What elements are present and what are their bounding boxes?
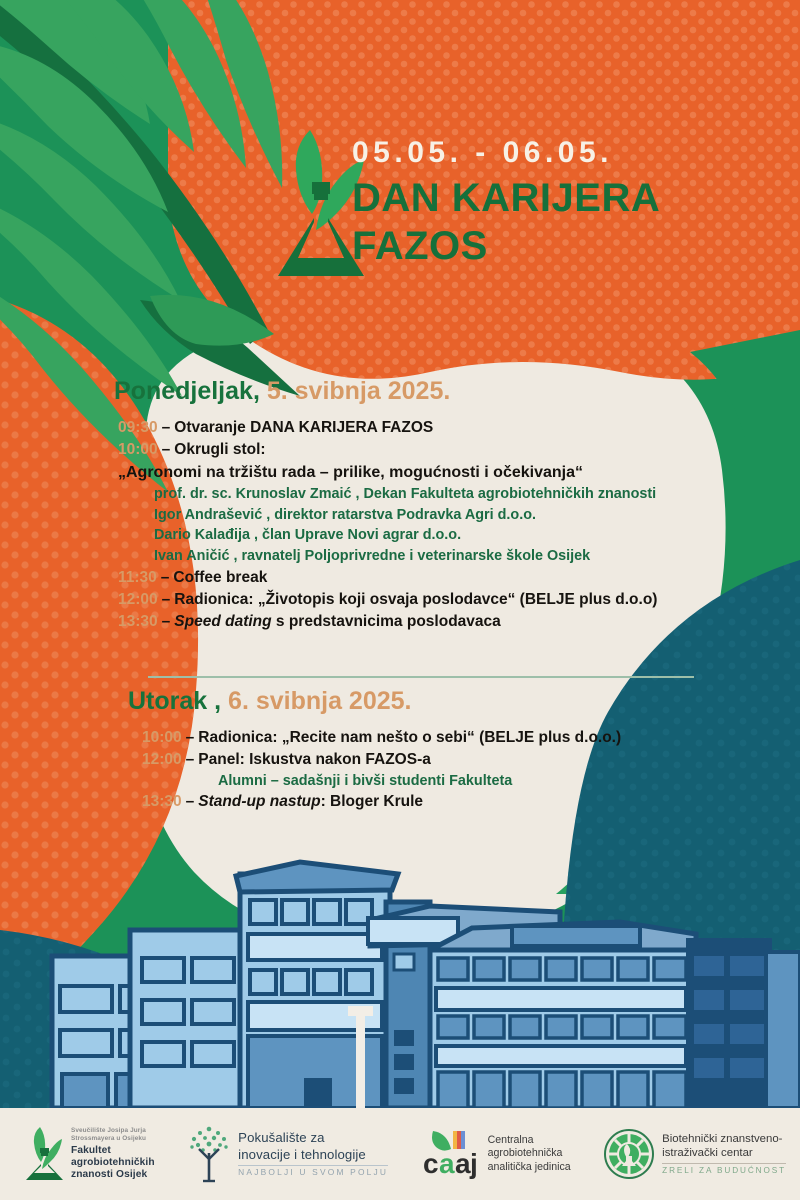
bzic-tagline: ZRELI ZA BUDUĆNOST	[662, 1166, 786, 1176]
row-time: 10:00	[142, 727, 182, 749]
day-name: Ponedjeljak,	[114, 377, 260, 405]
caaj-line-2: agrobiotehnička	[488, 1147, 571, 1160]
schedule-row: 12:00 – Radionica: „Životopis koji osvaj…	[114, 589, 734, 611]
footer-logo-bar: Sveučilište Josipa Jurja Strossmayera u …	[0, 1108, 800, 1200]
svg-text:a: a	[439, 1148, 455, 1179]
row-text-rest: s predstavnicima poslodavaca	[272, 613, 501, 630]
day-items: 10:00 – Radionica: „Recite nam nešto o s…	[128, 727, 748, 814]
schedule-day-tuesday: Utorak , 6. svibnja 2025. 10:00 – Radion…	[128, 688, 748, 813]
day-heading: Utorak , 6. svibnja 2025.	[128, 688, 748, 716]
row-dash: –	[161, 567, 170, 589]
row-time: 11:30	[118, 567, 157, 589]
logo-pokusaliste: Pokušalište za inovacije i tehnologije N…	[187, 1125, 388, 1183]
pokusaliste-line-1: Pokušalište za	[238, 1130, 388, 1147]
day-heading: Ponedjeljak, 5. svibnja 2025.	[114, 378, 734, 406]
logo-bzic-text: Biotehnički znanstveno- istraživački cen…	[662, 1133, 786, 1175]
row-text-italic: Stand-up nastup	[198, 793, 320, 810]
tree-network-icon	[187, 1125, 231, 1183]
schedule-row: 10:00 – Okrugli stol:	[114, 439, 734, 461]
section-divider	[148, 676, 694, 678]
logo-pokusaliste-text: Pokušalište za inovacije i tehnologije N…	[238, 1130, 388, 1178]
speaker-line: Ivan Aničić , ravnatelj Poljoprivredne i…	[114, 546, 734, 567]
row-text: Okrugli stol:	[174, 439, 265, 461]
row-text: Panel: Iskustva nakon FAZOS-a	[198, 749, 431, 771]
row-text-rest: : Bloger Krule	[321, 793, 423, 810]
logo-caaj-text: Centralna agrobiotehnička analitička jed…	[488, 1134, 571, 1174]
row-dash: –	[162, 589, 171, 611]
row-dash: –	[186, 791, 195, 813]
caaj-leaf-icon: c a a j	[421, 1125, 481, 1183]
svg-text:c: c	[423, 1148, 439, 1179]
row-text: Otvaranje DANA KARIJERA FAZOS	[174, 417, 433, 439]
poster-canvas: 05.05. - 06.05. DAN KARIJERA FAZOS Poned…	[0, 0, 800, 1200]
row-text-italic: Speed dating	[174, 613, 271, 630]
row-time: 09:30	[118, 417, 158, 439]
schedule-row: 12:00 – Panel: Iskustva nakon FAZOS-a	[128, 749, 748, 771]
bzic-circle-icon	[603, 1128, 655, 1180]
fazos-university-line-2: Strossmayera u Osijeku	[71, 1135, 155, 1142]
row-time: 12:00	[142, 749, 182, 771]
logo-bzic: Biotehnički znanstveno- istraživački cen…	[603, 1128, 786, 1180]
logo-fazos: Sveučilište Josipa Jurja Strossmayera u …	[24, 1125, 155, 1183]
row-text: Radionica: „Životopis koji osvaja poslod…	[174, 589, 657, 611]
fazos-university-line-1: Sveučilište Josipa Jurja	[71, 1127, 155, 1134]
row-time: 13:30	[118, 611, 158, 633]
row-dash: –	[162, 439, 171, 461]
schedule-row: 10:00 – Radionica: „Recite nam nešto o s…	[128, 727, 748, 749]
fazos-name-line-2: agrobiotehničkih	[71, 1157, 155, 1169]
bzic-line-2: istraživački centar	[662, 1147, 786, 1161]
schedule-row: 13:30 – Speed dating s predstavnicima po…	[114, 611, 734, 633]
event-dates: 05.05. - 06.05.	[352, 138, 772, 168]
bzic-line-1: Biotehnički znanstveno-	[662, 1133, 786, 1147]
row-dash: –	[162, 417, 171, 439]
panel-subtitle: Alumni – sadašnji i bivši studenti Fakul…	[128, 771, 748, 792]
schedule-row: 13:30 – Stand-up nastup: Bloger Krule	[128, 791, 748, 813]
roundtable-title: „Agronomi na tržištu rada – prilike, mog…	[114, 461, 734, 484]
pokusaliste-divider	[238, 1165, 388, 1166]
fazos-name-line-1: Fakultet	[71, 1145, 155, 1157]
event-title-line-1: DAN KARIJERA	[352, 177, 772, 220]
header-block: 05.05. - 06.05. DAN KARIJERA FAZOS	[352, 138, 772, 268]
schedule-row: 09:30 – Otvaranje DANA KARIJERA FAZOS	[114, 417, 734, 439]
day-name: Utorak ,	[128, 687, 221, 715]
logo-caaj: c a a j Centralna agrobiotehnička analit…	[421, 1125, 571, 1183]
speaker-line: prof. dr. sc. Krunoslav Zmaić , Dekan Fa…	[114, 484, 734, 505]
caaj-line-1: Centralna	[488, 1134, 571, 1147]
pokusaliste-tagline: NAJBOLJI U SVOM POLJU	[238, 1168, 388, 1178]
day-items: 09:30 – Otvaranje DANA KARIJERA FAZOS 10…	[114, 417, 734, 634]
pokusaliste-line-2: inovacije i tehnologije	[238, 1147, 388, 1164]
schedule-day-monday: Ponedjeljak, 5. svibnja 2025. 09:30 – Ot…	[114, 378, 734, 633]
logo-fazos-text: Sveučilište Josipa Jurja Strossmayera u …	[71, 1127, 155, 1181]
svg-text:j: j	[469, 1148, 478, 1179]
speaker-line: Igor Andrašević , direktor ratarstva Pod…	[114, 505, 734, 526]
bzic-divider	[662, 1163, 786, 1164]
row-time: 13:30	[142, 791, 182, 813]
day-date: 6. svibnja 2025.	[228, 687, 411, 715]
row-text: Radionica: „Recite nam nešto o sebi“ (BE…	[198, 727, 621, 749]
row-dash: –	[186, 727, 195, 749]
row-time: 12:00	[118, 589, 158, 611]
fazos-name-line-3: znanosti Osijek	[71, 1169, 155, 1181]
event-title-line-2: FAZOS	[352, 225, 772, 268]
svg-text:a: a	[455, 1148, 471, 1179]
caaj-line-3: analitička jedinica	[488, 1161, 571, 1174]
day-date: 5. svibnja 2025.	[267, 377, 450, 405]
row-text: Coffee break	[173, 567, 267, 589]
row-time: 10:00	[118, 439, 158, 461]
speaker-line: Dario Kalađija , član Uprave Novi agrar …	[114, 525, 734, 546]
row-dash: –	[162, 611, 171, 633]
fazos-flask-sprout-icon	[24, 1125, 64, 1183]
row-text: Stand-up nastup: Bloger Krule	[198, 791, 423, 813]
schedule-row: 11:30 – Coffee break	[114, 567, 734, 589]
row-dash: –	[186, 749, 195, 771]
row-text: Speed dating s predstavnicima poslodavac…	[174, 611, 500, 633]
